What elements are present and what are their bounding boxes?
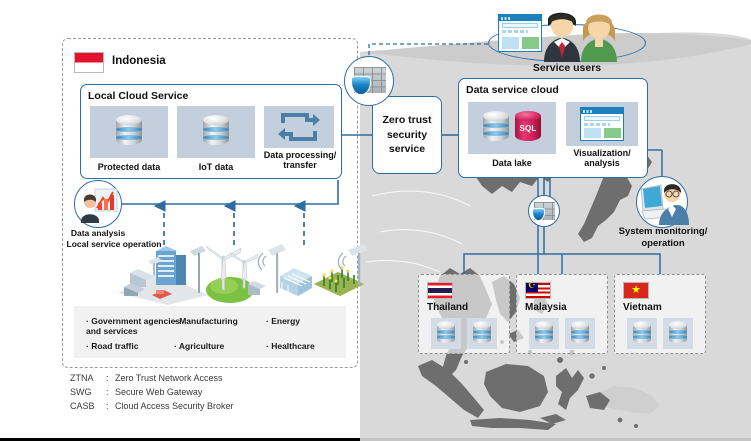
- zero-trust-line2: security: [382, 128, 431, 143]
- sector-label: Manufacturing: [179, 316, 238, 326]
- system-monitoring-bubble: [636, 176, 688, 228]
- data-analysis-label: Data analysis: [62, 228, 134, 238]
- analyst-person-icon: [75, 181, 123, 229]
- database-sql-icon: SQL: [513, 111, 543, 145]
- system-monitoring-label: System monitoring/ operation: [598, 226, 728, 250]
- sql-label: SQL: [513, 124, 543, 133]
- legend-text: Cloud Access Security Broker: [115, 400, 234, 414]
- operator-person-icon: [637, 177, 689, 229]
- sector-item: · Energy: [266, 316, 300, 326]
- diagram-canvas: Indonesia Local Cloud Service Protected …: [0, 0, 751, 441]
- database-icon: [569, 321, 591, 346]
- legend-text: Secure Web Gateway: [115, 386, 202, 400]
- legend-text: Zero Trust Network Access: [115, 372, 223, 386]
- smart-agriculture-icon: [272, 242, 376, 306]
- database-icon: [631, 321, 653, 346]
- country-database-tile[interactable]: [431, 318, 461, 349]
- thailand-flag-icon: [427, 282, 453, 299]
- bullet: ·: [174, 316, 177, 326]
- dashboard-window-icon: [498, 14, 542, 52]
- legend-key: CASB: [70, 400, 106, 414]
- abbreviation-legend: ZTNA : Zero Trust Network Access SWG : S…: [70, 372, 234, 414]
- sector-label: Government agencies and services: [86, 316, 180, 336]
- bullet: ·: [266, 316, 269, 326]
- indonesia-flag-icon: [74, 52, 104, 73]
- service-users-label: Service users: [488, 62, 646, 74]
- firewall-bubble-top: [344, 56, 394, 106]
- database-icon: [201, 115, 231, 149]
- sector-label: Road traffic: [91, 341, 138, 351]
- legend-key: ZTNA: [70, 372, 106, 386]
- country-name: Vietnam: [623, 302, 662, 313]
- country-box-thailand: Thailand: [418, 274, 510, 354]
- system-monitoring-line2: operation: [598, 238, 728, 250]
- sector-item: · Manufacturing: [174, 316, 238, 326]
- zero-trust-line3: service: [382, 142, 431, 157]
- tile-label-text: Data processing/ transfer: [264, 150, 337, 170]
- country-box-vietnam: Vietnam: [614, 274, 706, 354]
- legend-separator: :: [106, 400, 115, 414]
- country-name: Thailand: [427, 302, 468, 313]
- tile-visualization-analysis-label: Visualization/ analysis: [566, 148, 638, 168]
- legend-separator: :: [106, 372, 115, 386]
- legend-row: SWG : Secure Web Gateway: [70, 386, 234, 400]
- country-database-tile[interactable]: [627, 318, 657, 349]
- loop-arrow-icon: [277, 110, 321, 144]
- tile-data-processing-transfer[interactable]: [264, 106, 334, 148]
- tile-protected-data[interactable]: [90, 106, 168, 158]
- database-icon: [481, 111, 511, 145]
- legend-separator: :: [106, 386, 115, 400]
- legend-row: CASB : Cloud Access Security Broker: [70, 400, 234, 414]
- sector-label: Healthcare: [271, 341, 314, 351]
- bullet: ·: [266, 341, 269, 351]
- country-database-tile[interactable]: [467, 318, 497, 349]
- malaysia-flag-icon: [525, 282, 551, 299]
- data-analysis-bubble: [74, 180, 122, 228]
- firewall-shield-icon: [354, 67, 386, 93]
- firewall-bubble-bottom: [528, 195, 560, 227]
- country-database-tile[interactable]: [663, 318, 693, 349]
- service-users-dashboard: [498, 14, 542, 52]
- dashboard-window-icon: [580, 107, 624, 141]
- database-icon: [114, 115, 144, 149]
- tile-data-lake-label: Data lake: [468, 158, 556, 168]
- country-name: Malaysia: [525, 302, 567, 313]
- country-box-malaysia: Malaysia: [516, 274, 608, 354]
- businesswoman-icon: [578, 8, 620, 62]
- zero-trust-security-service-box[interactable]: Zero trust security service: [372, 96, 442, 174]
- tile-iot-data-label: IoT data: [177, 162, 255, 172]
- vietnam-flag-icon: [623, 282, 649, 299]
- sector-label: Agriculture: [179, 341, 224, 351]
- sector-item: · Government agencies and services: [86, 316, 186, 337]
- tile-label-text: Visualization/ analysis: [573, 148, 630, 168]
- country-database-tile[interactable]: [529, 318, 559, 349]
- country-database-tile[interactable]: [565, 318, 595, 349]
- legend-key: SWG: [70, 386, 106, 400]
- zero-trust-line1: Zero trust: [382, 113, 431, 128]
- sector-item: · Agriculture: [174, 341, 224, 351]
- system-monitoring-line1: System monitoring/: [598, 226, 728, 238]
- sector-label: Energy: [271, 316, 300, 326]
- bullet: ·: [86, 341, 89, 351]
- bullet: ·: [174, 341, 177, 351]
- indonesia-label: Indonesia: [112, 55, 166, 67]
- tile-data-processing-transfer-label: Data processing/ transfer: [262, 150, 338, 170]
- local-cloud-service-title: Local Cloud Service: [88, 90, 188, 102]
- tile-visualization-analysis[interactable]: [566, 102, 638, 146]
- sector-item: · Road traffic: [86, 341, 138, 351]
- bullet: ·: [86, 316, 89, 326]
- database-icon: [533, 321, 555, 346]
- database-icon: [435, 321, 457, 346]
- database-icon: [667, 321, 689, 346]
- local-service-operation-label: Local service operation: [58, 239, 170, 249]
- database-icon: [471, 321, 493, 346]
- data-service-cloud-title: Data service cloud: [466, 84, 559, 96]
- firewall-shield-icon: [534, 202, 555, 220]
- tile-iot-data[interactable]: [177, 106, 255, 158]
- tile-protected-data-label: Protected data: [90, 162, 168, 172]
- sector-item: · Healthcare: [266, 341, 315, 351]
- tile-data-lake[interactable]: SQL: [468, 102, 556, 154]
- legend-row: ZTNA : Zero Trust Network Access: [70, 372, 234, 386]
